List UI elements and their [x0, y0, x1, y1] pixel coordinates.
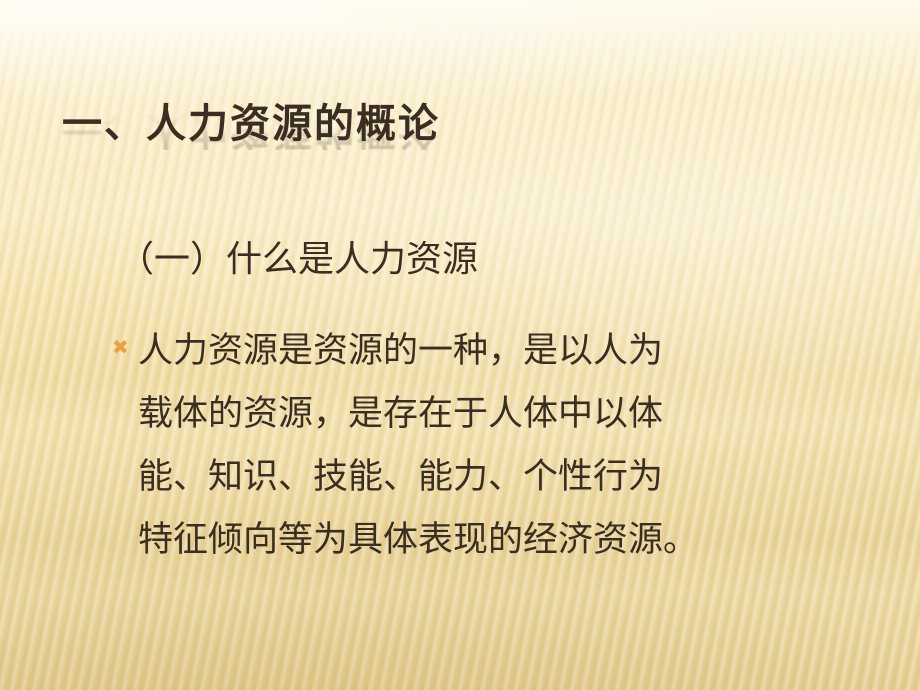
slide-content: 一、人力资源的概论 一、人力资源的概论 （一）什么是人力资源 ✖ 人力资源是资源…	[0, 0, 920, 690]
multiply-x-icon: ✖	[112, 320, 138, 374]
presentation-slide: 一、人力资源的概论 一、人力资源的概论 （一）什么是人力资源 ✖ 人力资源是资源…	[0, 0, 920, 690]
body-line: 特征倾向等为具体表现的经济资源。	[138, 509, 852, 572]
body-line: 载体的资源，是存在于人体中以体	[138, 383, 852, 446]
slide-title-block: 一、人力资源的概论 一、人力资源的概论	[62, 104, 782, 214]
bullet-paragraph: 人力资源是资源的一种，是以人为 载体的资源，是存在于人体中以体 能、知识、技能、…	[138, 320, 852, 572]
body-line: 人力资源是资源的一种，是以人为	[138, 320, 852, 383]
body-line: 能、知识、技能、能力、个性行为	[138, 446, 852, 509]
slide-subtitle: （一）什么是人力资源	[118, 238, 478, 281]
bullet-list-item: ✖ 人力资源是资源的一种，是以人为 载体的资源，是存在于人体中以体 能、知识、技…	[112, 320, 852, 572]
slide-title: 一、人力资源的概论	[62, 104, 782, 144]
